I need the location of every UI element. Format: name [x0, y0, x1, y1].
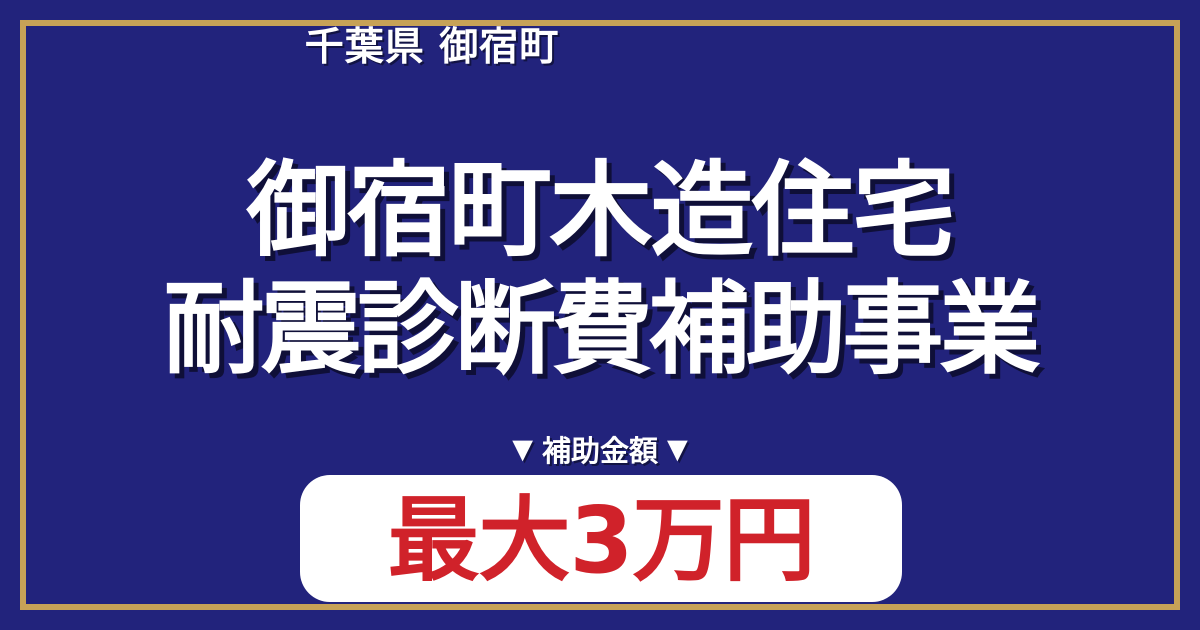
amount-kicker-group: ▼ 補助金額 ▼	[512, 428, 688, 470]
amount-kicker: ▼ 補助金額 ▼	[0, 428, 1200, 470]
triangle-down-right-icon: ▼	[667, 436, 688, 463]
amount-value: 最大3万円	[387, 495, 814, 587]
page-title: 御宿町木造住宅 耐震診断費補助事業	[0, 152, 1200, 388]
triangle-down-left-icon: ▼	[512, 436, 533, 463]
subsidy-banner: 千葉県 御宿町 御宿町木造住宅 耐震診断費補助事業 ▼ 補助金額 ▼ 最大3万円	[0, 0, 1200, 630]
amount-kicker-label: 補助金額	[542, 428, 658, 470]
amount-badge: 最大3万円	[300, 475, 902, 602]
headline-line-2: 耐震診断費補助事業	[0, 270, 1200, 388]
locality-label: 千葉県 御宿町	[0, 24, 1200, 73]
locality-text: 千葉県 御宿町	[305, 24, 560, 73]
headline-line-1: 御宿町木造住宅	[0, 152, 1200, 270]
